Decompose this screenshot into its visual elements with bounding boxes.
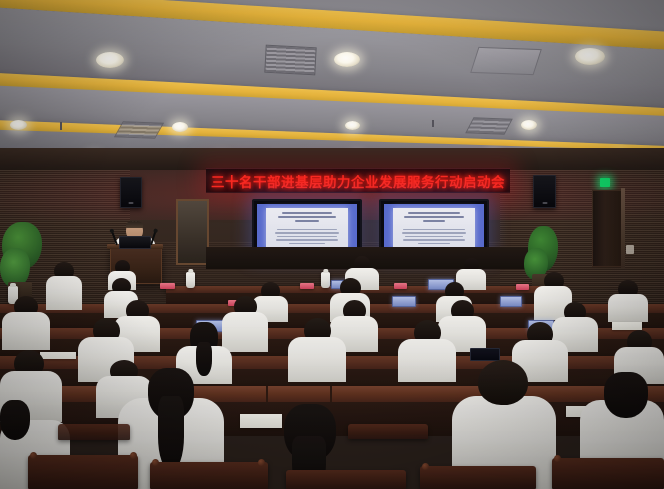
- chair-back: [286, 470, 406, 489]
- potted-plant-left: [0, 222, 44, 300]
- desk-paper: [612, 322, 642, 330]
- attendee-shirt: [398, 339, 456, 382]
- desk-monitor: [500, 296, 522, 307]
- ceiling-downlight: [334, 52, 360, 67]
- attendee-hair-strand: [158, 396, 184, 470]
- wall-speaker-left: [120, 177, 142, 208]
- slide-body-line: [276, 239, 338, 241]
- slide-body-line: [277, 236, 336, 238]
- left-screen-display: [257, 204, 357, 252]
- ceiling-downlight: [345, 121, 360, 130]
- ceiling-downlight: [575, 48, 605, 65]
- chair-back: [150, 462, 268, 489]
- chair-knob: [130, 452, 137, 459]
- right-screen-display: [384, 204, 484, 252]
- chair-back: [58, 424, 130, 440]
- attendee-hair: [604, 372, 648, 418]
- attendee: [288, 318, 346, 382]
- attendee: [398, 320, 456, 382]
- name-card: [516, 284, 529, 290]
- slide-body-line: [275, 232, 339, 234]
- slide-body-line: [405, 236, 462, 238]
- wall-speaker-right: [533, 175, 556, 208]
- chair-knob: [30, 452, 37, 459]
- attendee: [46, 262, 82, 310]
- attendee-head: [478, 360, 528, 405]
- attendee-hair: [0, 400, 30, 440]
- presenter-hair: [126, 221, 143, 228]
- slide-title-line: [278, 216, 335, 218]
- chair-knob: [152, 459, 159, 466]
- event-banner: 三十名干部进基层助力企业发展服务行动启动会: [206, 168, 510, 193]
- chair-knob: [258, 459, 265, 466]
- ceiling-downlight: [96, 52, 124, 68]
- ceiling-sprinkler: [432, 120, 434, 127]
- desk-seam: [330, 386, 332, 402]
- name-card: [160, 283, 175, 289]
- ceiling-air-vent: [465, 117, 513, 134]
- attendee-shirt: [2, 312, 50, 350]
- desk-seam: [266, 386, 268, 402]
- event-banner-text: 三十名干部进基层助力企业发展服务行动启动会: [211, 171, 505, 191]
- slide-body-line: [418, 243, 451, 245]
- conference-room-photo: 三十名干部进基层助力企业发展服务行动启动会: [0, 0, 664, 489]
- thermos-flask: [321, 272, 330, 288]
- ceiling-air-vent: [470, 47, 542, 75]
- slide-body-line: [289, 243, 325, 245]
- slide-title-line: [282, 212, 333, 214]
- attendee-shirt: [46, 276, 82, 310]
- ceiling-sprinkler: [60, 122, 62, 130]
- side-door-right: [592, 190, 624, 267]
- attendee: [608, 280, 648, 322]
- slide-title-line: [423, 220, 446, 222]
- light-switch-panel: [626, 245, 634, 254]
- podium-laptop: [119, 236, 151, 249]
- ceiling-downlight: [172, 122, 188, 132]
- chair-knob: [554, 455, 561, 462]
- thermos-flask: [186, 272, 195, 288]
- slide-body-line: [403, 239, 465, 241]
- chair-back: [28, 455, 138, 489]
- back-door-left: [176, 199, 209, 265]
- name-card: [300, 283, 314, 289]
- slide-title-line: [408, 212, 460, 214]
- chair-back: [348, 424, 428, 439]
- desk-monitor: [392, 296, 416, 307]
- name-card: [394, 283, 407, 289]
- slide-title-line: [404, 216, 463, 218]
- slide-body-line: [402, 232, 467, 234]
- ceiling-downlight: [10, 120, 27, 130]
- right-screen-document: [393, 208, 475, 248]
- chair-back: [420, 466, 536, 489]
- emergency-exit-sign: [600, 178, 610, 187]
- slide-body-line: [403, 229, 465, 231]
- chair-knob: [422, 463, 429, 470]
- slide-title-line: [295, 220, 320, 222]
- attendee-shirt: [288, 337, 346, 382]
- attendee: [2, 296, 50, 350]
- attendee-shirt: [608, 294, 648, 322]
- left-screen-document: [266, 208, 348, 248]
- wall-above-banner: [0, 148, 664, 170]
- chair-back: [552, 458, 664, 489]
- ceiling-air-vent: [264, 45, 316, 76]
- ceiling-downlight: [521, 120, 537, 130]
- door-frame-highlight: [621, 188, 625, 268]
- slide-body-line: [277, 229, 338, 231]
